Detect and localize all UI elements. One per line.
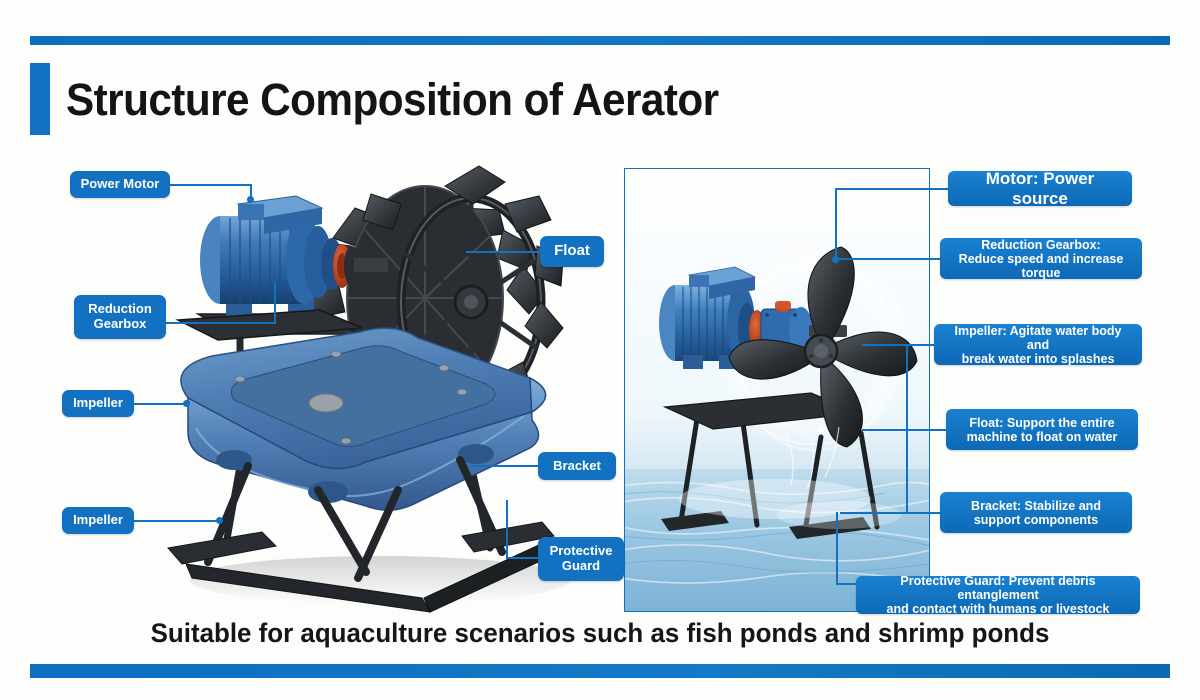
- label-power-motor[interactable]: Power Motor: [70, 171, 170, 198]
- label-right-impeller-line1: Impeller: Agitate water body and: [943, 324, 1133, 352]
- aerator-in-water-photo: [625, 169, 930, 612]
- label-right-impeller[interactable]: Impeller: Agitate water body and break w…: [934, 324, 1142, 365]
- label-right-bracket-line1: Bracket: Stabilize and: [971, 499, 1101, 513]
- leader-protective-guard-drop: [506, 500, 508, 558]
- leader-bracket: [470, 465, 542, 467]
- label-right-float-line1: Float: Support the entire: [969, 416, 1114, 430]
- label-impeller-upper[interactable]: Impeller: [62, 390, 134, 417]
- leader-right-float-drop: [906, 344, 908, 430]
- anchor-impeller-lower: [216, 517, 223, 524]
- leader-float: [466, 251, 542, 253]
- leader-right-bracket-drop: [906, 429, 908, 513]
- top-accent-rule: [30, 36, 1170, 45]
- label-right-guard[interactable]: Protective Guard: Prevent debris entangl…: [856, 576, 1140, 614]
- anchor-power-motor: [247, 196, 254, 203]
- leader-right-guard-drop: [836, 512, 838, 584]
- aerator-photo-frame: [624, 168, 930, 612]
- label-right-bracket[interactable]: Bracket: Stabilize and support component…: [940, 492, 1132, 533]
- caption-text: Suitable for aquaculture scenarios such …: [24, 618, 1176, 649]
- label-right-impeller-line2: break water into splashes: [962, 352, 1115, 366]
- label-right-gearbox-line1: Reduction Gearbox:: [981, 238, 1100, 252]
- label-float[interactable]: Float: [540, 236, 604, 267]
- leader-protective-guard: [506, 557, 542, 559]
- label-right-float[interactable]: Float: Support the entire machine to flo…: [946, 409, 1138, 450]
- title-text: Structure Composition of Aerator: [66, 77, 719, 122]
- anchor-impeller-upper: [183, 400, 190, 407]
- label-reduction-gearbox[interactable]: Reduction Gearbox: [74, 295, 166, 339]
- label-right-gearbox-line2: Reduce speed and increase torque: [949, 252, 1133, 280]
- anchor-right-motor: [832, 256, 839, 263]
- leader-impeller-lower: [130, 520, 220, 522]
- leader-right-gearbox: [838, 258, 950, 260]
- slide-root: Structure Composition of Aerator: [0, 0, 1200, 700]
- label-right-float-line2: machine to float on water: [967, 430, 1118, 444]
- label-bracket[interactable]: Bracket: [538, 452, 616, 480]
- label-right-motor[interactable]: Motor: Power source: [948, 171, 1132, 206]
- label-reduction-gearbox-line2: Gearbox: [94, 317, 147, 332]
- label-right-guard-line1: Protective Guard: Prevent debris entangl…: [865, 574, 1131, 602]
- label-reduction-gearbox-line1: Reduction: [88, 302, 152, 317]
- leader-right-impeller: [862, 344, 938, 346]
- label-protective-guard[interactable]: Protective Guard: [538, 537, 624, 581]
- leader-reduction-gearbox: [164, 322, 276, 324]
- title-accent-bar: [30, 63, 50, 135]
- label-right-bracket-line2: support components: [974, 513, 1098, 527]
- leader-right-motor: [835, 188, 950, 190]
- label-protective-guard-line1: Protective: [550, 544, 613, 559]
- leader-power-motor: [168, 184, 252, 186]
- label-impeller-lower[interactable]: Impeller: [62, 507, 134, 534]
- leader-right-bracket: [840, 512, 942, 514]
- bottom-accent-rule: [30, 664, 1170, 678]
- leader-impeller-upper: [130, 403, 186, 405]
- label-right-gearbox[interactable]: Reduction Gearbox: Reduce speed and incr…: [940, 238, 1142, 279]
- leader-reduction-gearbox-drop: [274, 282, 276, 324]
- label-right-guard-line2: and contact with humans or livestock: [887, 602, 1110, 616]
- page-title: Structure Composition of Aerator: [30, 60, 760, 138]
- label-protective-guard-line2: Guard: [562, 559, 600, 574]
- leader-right-motor-up: [835, 188, 837, 260]
